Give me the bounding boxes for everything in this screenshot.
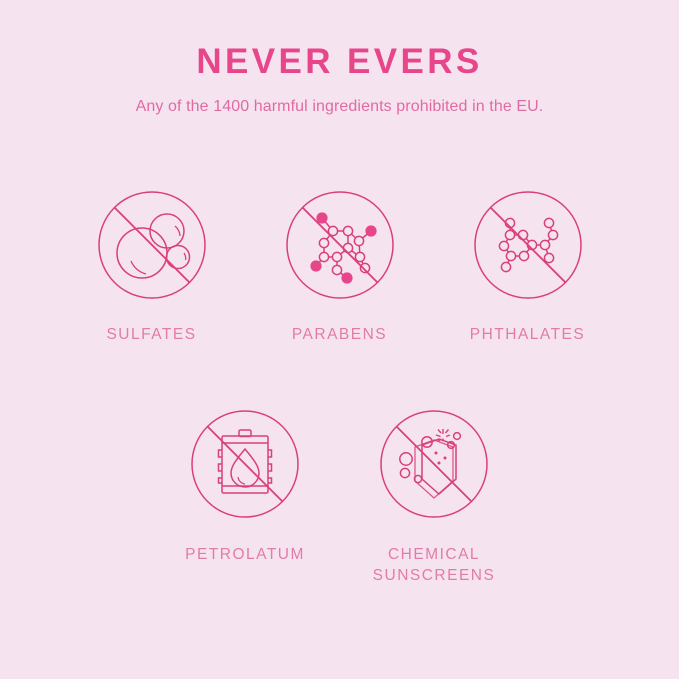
ingredient-label: PHTHALATES <box>470 325 586 345</box>
ingredient-label: PARABENS <box>292 325 387 345</box>
no-phthalates-icon <box>473 190 583 300</box>
ingredient-label: SULFATES <box>106 325 196 345</box>
page-subtitle: Any of the 1400 harmful ingredients proh… <box>0 79 679 116</box>
ingredient-item-petrolatum: PETROLATUM <box>190 409 300 586</box>
ingredient-label: PETROLATUM <box>185 545 305 565</box>
no-chemical-sunscreens-icon <box>379 409 489 519</box>
ingredient-grid: SULFATES <box>0 190 679 586</box>
header: NEVER EVERS Any of the 1400 harmful ingr… <box>0 0 679 116</box>
ingredient-item-parabens: PARABENS <box>285 190 395 345</box>
ingredient-row-bottom: PETROLATUM <box>0 409 679 586</box>
no-petrolatum-icon <box>190 409 300 519</box>
no-parabens-icon <box>285 190 395 300</box>
ingredient-item-phthalates: PHTHALATES <box>473 190 583 345</box>
never-evers-infographic: NEVER EVERS Any of the 1400 harmful ingr… <box>0 0 679 679</box>
no-sulfates-icon <box>97 190 207 300</box>
ingredient-item-sulfates: SULFATES <box>97 190 207 345</box>
ingredient-label: CHEMICAL SUNSCREENS <box>373 545 496 586</box>
ingredient-row-top: SULFATES <box>0 190 679 345</box>
ingredient-item-chemical-sunscreens: CHEMICAL SUNSCREENS <box>379 409 489 586</box>
page-title: NEVER EVERS <box>0 44 679 79</box>
